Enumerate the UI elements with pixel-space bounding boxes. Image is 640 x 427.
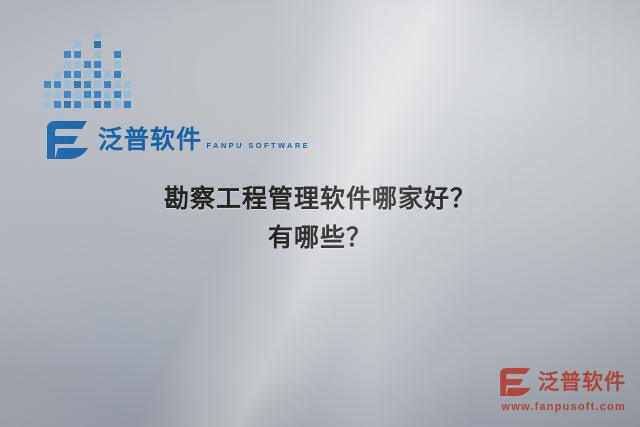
brand-logo: 泛普软件 FANPU SOFTWARE (44, 120, 310, 160)
brand-text-block: 泛普软件 FANPU SOFTWARE (98, 127, 310, 153)
headline-line-1: 勘察工程管理软件哪家好？ (164, 184, 476, 213)
promo-banner: 泛普软件 FANPU SOFTWARE 勘察工程管理软件哪家好？ 有哪些？ 泛普… (0, 0, 640, 427)
watermark-brand-name: 泛普软件 (538, 372, 626, 393)
headline-line-2: 有哪些？ (0, 219, 640, 258)
brand-name-cn: 泛普软件 (98, 125, 202, 154)
watermark: 泛普软件 www.fanpusoft.com (498, 367, 626, 413)
watermark-logo-row: 泛普软件 (498, 367, 626, 397)
watermark-url: www.fanpusoft.com (502, 401, 627, 413)
page-title: 勘察工程管理软件哪家好？ 有哪些？ (0, 180, 640, 258)
fanpu-f-swoosh-icon (498, 367, 532, 397)
pixel-building-icon (44, 30, 144, 108)
brand-name-en: FANPU SOFTWARE (206, 141, 310, 150)
fanpu-f-swoosh-icon (44, 120, 90, 160)
